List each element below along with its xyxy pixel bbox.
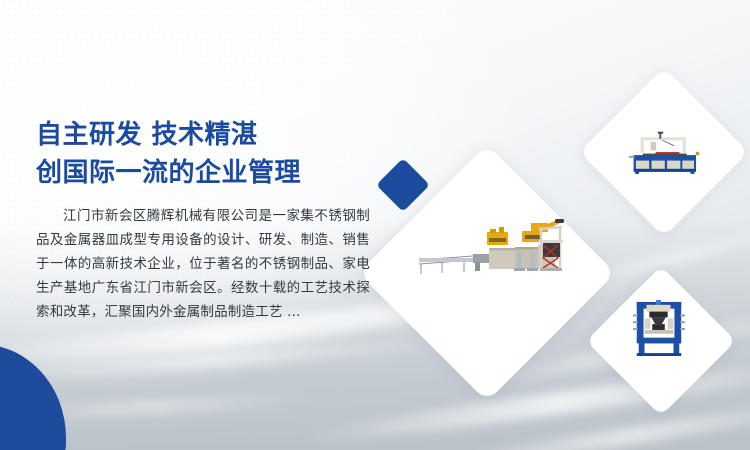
copy-block: 自主研发 技术精湛 创国际一流的企业管理 江门市新会区腾辉机械有限公司是一家集不… [36,116,366,338]
headline-line-2: 创国际一流的企业管理 [36,154,366,192]
headline-line-1: 自主研发 技术精湛 [36,116,366,154]
machine-hydraulic-press [630,300,688,356]
machine-welding-bench [625,130,703,174]
machine-production-line [414,212,564,276]
company-profile-banner: 自主研发 技术精湛 创国际一流的企业管理 江门市新会区腾辉机械有限公司是一家集不… [0,0,750,450]
company-description: 江门市新会区腾辉机械有限公司是一家集不锈钢制品及金属器皿成型专用设备的设计、研发… [36,204,370,324]
